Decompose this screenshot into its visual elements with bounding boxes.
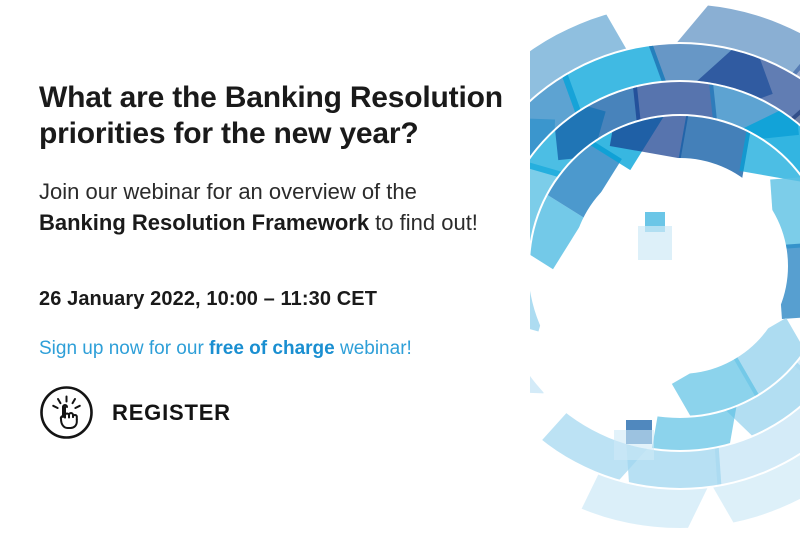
signup-lead: Sign up now for our [39, 338, 209, 359]
signup-tail: webinar! [335, 338, 412, 359]
description-tail: to find out! [369, 210, 478, 235]
event-datetime: 26 January 2022, 10:00 – 11:30 CET [39, 288, 377, 311]
ring-fragment-square [645, 212, 665, 232]
webinar-banner: What are the Banking Resolution prioriti… [0, 0, 800, 533]
banner-content: What are the Banking Resolution prioriti… [39, 0, 559, 533]
description-emphasis: Banking Resolution Framework [39, 210, 369, 235]
ring-graphic-svg [530, 0, 800, 533]
signup-line[interactable]: Sign up now for our free of charge webin… [39, 338, 412, 360]
signup-emphasis: free of charge [209, 338, 335, 359]
page-title: What are the Banking Resolution prioriti… [39, 80, 559, 152]
webinar-description: Join our webinar for an overview of the … [39, 176, 479, 238]
register-label: REGISTER [112, 400, 231, 426]
description-lead: Join our webinar for an overview of the [39, 179, 417, 204]
abstract-blue-ring-graphic [530, 0, 800, 533]
register-button[interactable]: REGISTER [39, 385, 231, 440]
tap-hand-icon [39, 385, 94, 440]
